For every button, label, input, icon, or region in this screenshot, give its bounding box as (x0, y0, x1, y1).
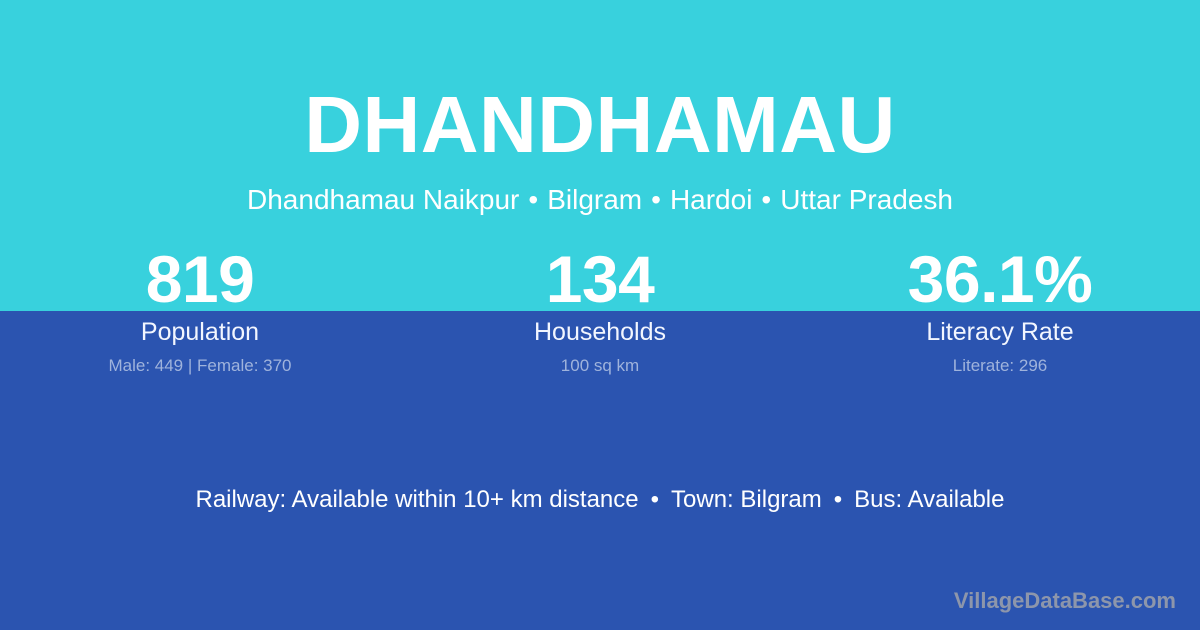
breadcrumb-separator: • (642, 184, 670, 215)
breadcrumb-item-district: Hardoi (670, 184, 752, 215)
stat-literacy-rate: 36.1% Literacy Rate Literate: 296 (800, 245, 1200, 385)
stat-label: Literacy Rate (800, 316, 1200, 348)
amenity-bus: Bus: Available (854, 486, 1004, 513)
stat-sublabel: Male: 449 | Female: 370 (0, 355, 400, 377)
stat-label: Population (0, 316, 400, 348)
stat-value: 134 (400, 245, 800, 313)
stats-row: 819 Population Male: 449 | Female: 370 1… (0, 245, 1200, 385)
amenity-town: Town: Bilgram (671, 486, 822, 513)
breadcrumb-separator: • (519, 184, 547, 215)
amenity-separator: • (639, 486, 671, 513)
page-title: DHANDHAMAU (0, 77, 1200, 173)
stat-sublabel: 100 sq km (400, 355, 800, 377)
breadcrumb: Dhandhamau Naikpur•Bilgram•Hardoi•Uttar … (0, 181, 1200, 219)
stat-sublabel: Literate: 296 (800, 355, 1200, 377)
stat-population: 819 Population Male: 449 | Female: 370 (0, 245, 400, 385)
stat-label: Households (400, 316, 800, 348)
amenity-separator: • (822, 486, 854, 513)
site-brand: VillageDataBase.com (954, 587, 1176, 615)
village-info-card: DHANDHAMAU Dhandhamau Naikpur•Bilgram•Ha… (0, 0, 1200, 630)
breadcrumb-item-block: Bilgram (547, 184, 642, 215)
stat-value: 36.1% (800, 245, 1200, 313)
stat-value: 819 (0, 245, 400, 313)
breadcrumb-separator: • (752, 184, 780, 215)
breadcrumb-item-village: Dhandhamau Naikpur (247, 184, 519, 215)
amenity-railway: Railway: Available within 10+ km distanc… (196, 486, 639, 513)
amenities-line: Railway: Available within 10+ km distanc… (0, 484, 1200, 516)
stat-households: 134 Households 100 sq km (400, 245, 800, 385)
breadcrumb-item-state: Uttar Pradesh (780, 184, 953, 215)
